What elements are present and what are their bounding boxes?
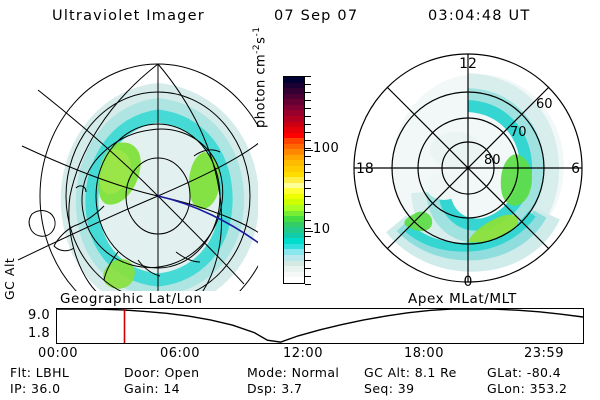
geographic-polar-plot	[8, 46, 258, 291]
orbit-y-tick-label: 1.8	[28, 326, 50, 341]
status-field-value: 3.7	[281, 381, 302, 396]
colorbar-tick	[305, 268, 311, 269]
status-field: IP: 36.0	[10, 381, 60, 396]
colorbar-tick	[305, 252, 311, 253]
status-field: Flt: LBHL	[10, 365, 69, 380]
colorbar-tick	[305, 180, 311, 181]
status-field: GC Alt: 8.1 Re	[364, 365, 457, 380]
orbit-x-tick-label: 23:59	[524, 346, 564, 361]
status-field-label: Gain:	[124, 381, 163, 396]
colorbar-tick	[305, 260, 311, 261]
status-field-label: GC Alt:	[364, 365, 415, 380]
orbit-x-tick-label: 18:00	[404, 346, 444, 361]
mlt-label-12: 12	[459, 56, 477, 72]
orbit-x-tick-label: 06:00	[160, 346, 200, 361]
colorbar-tick	[305, 188, 311, 189]
colorbar-tick-label: 100	[313, 141, 339, 156]
colorbar-unit-exp2: -1	[252, 27, 262, 37]
status-field: Dsp: 3.7	[247, 381, 302, 396]
status-field-label: GLat:	[487, 365, 527, 380]
colorbar-ticks	[305, 76, 313, 284]
status-field-label: Flt:	[10, 365, 36, 380]
colorbar-tick	[305, 76, 311, 77]
status-field-value: 39	[398, 381, 415, 396]
colorbar-tick	[305, 156, 311, 157]
status-field-label: Seq:	[364, 381, 398, 396]
colorbar-gradient	[284, 77, 304, 283]
gc-alt-axis-label: GC Alt	[2, 258, 17, 300]
status-field-value: 14	[163, 381, 180, 396]
status-field-value: -80.4	[527, 365, 561, 380]
colorbar-tick-label: 10	[313, 222, 331, 237]
mlt-label-18: 18	[356, 161, 374, 177]
status-field-value: Normal	[292, 365, 340, 380]
status-field: Door: Open	[124, 365, 199, 380]
colorbar-major-tick	[305, 150, 313, 152]
colorbar-tick	[305, 92, 311, 93]
colorbar-tick	[305, 276, 311, 277]
colorbar-tick	[305, 124, 311, 125]
status-field-value: LBHL	[36, 365, 70, 380]
status-field: Seq: 39	[364, 381, 414, 396]
mlat-label-80: 80	[484, 153, 501, 168]
colorbar-tick	[305, 132, 311, 133]
status-field-value: 353.2	[530, 381, 568, 396]
colorbar-segment	[284, 277, 304, 283]
status-field-label: GLon:	[487, 381, 530, 396]
mlat-label-60: 60	[536, 97, 553, 112]
status-field-label: IP:	[10, 381, 31, 396]
mlat-label-70: 70	[510, 125, 527, 140]
status-field: Mode: Normal	[247, 365, 339, 380]
status-footer: Flt: LBHLDoor: OpenMode: NormalGC Alt: 8…	[0, 365, 600, 397]
colorbar-tick	[305, 84, 311, 85]
colorbar-tick	[305, 236, 311, 237]
colorbar-tick	[305, 140, 311, 141]
status-field-label: Dsp:	[247, 381, 281, 396]
colorbar-tick	[305, 164, 311, 165]
mlt-label-6: 6	[571, 161, 580, 177]
colorbar-tick	[305, 108, 311, 109]
orbit-altitude-plot	[56, 308, 584, 344]
apex-plot-label: Apex MLat/MLT	[408, 291, 517, 307]
colorbar-tick	[305, 116, 311, 117]
status-field-value: 36.0	[31, 381, 60, 396]
status-field-label: Mode:	[247, 365, 292, 380]
status-row: Flt: LBHLDoor: OpenMode: NormalGC Alt: 8…	[0, 365, 600, 381]
instrument-title: Ultraviolet Imager	[52, 8, 205, 24]
colorbar-tick	[305, 196, 311, 197]
status-field-value: 8.1 Re	[415, 365, 457, 380]
geographic-plot-label: Geographic Lat/Lon	[60, 291, 203, 307]
status-field-label: Door:	[124, 365, 164, 380]
orbit-curve	[57, 309, 583, 343]
colorbar-tick	[305, 244, 311, 245]
colorbar-unit-main: photon cm	[253, 54, 268, 128]
colorbar-tick	[305, 228, 311, 229]
status-field-value: Open	[164, 365, 199, 380]
orbit-x-tick-label: 12:00	[283, 346, 323, 361]
status-field: GLon: 353.2	[487, 381, 567, 396]
colorbar-axis-label: photon cm-2s-1	[252, 27, 268, 128]
colorbar-tick	[305, 204, 311, 205]
observation-date: 07 Sep 07	[274, 8, 358, 24]
colorbar-tick	[305, 172, 311, 173]
colorbar	[283, 76, 305, 284]
orbit-x-tick-label: 00:00	[38, 346, 78, 361]
status-row: IP: 36.0Gain: 14Dsp: 3.7Seq: 39GLon: 353…	[0, 381, 600, 397]
colorbar-unit-exp1: -2	[252, 44, 262, 54]
colorbar-tick	[305, 284, 311, 285]
status-field: GLat: -80.4	[487, 365, 561, 380]
colorbar-major-tick	[305, 231, 313, 233]
apex-polar-plot: 12 6 0 18 60 70 80	[344, 46, 592, 291]
mlt-label-0: 0	[464, 274, 473, 290]
orbit-y-tick-label: 9.0	[28, 308, 50, 323]
observation-time: 03:04:48 UT	[428, 8, 530, 24]
colorbar-unit-mid: s	[253, 37, 268, 44]
colorbar-tick	[305, 220, 311, 221]
status-field: Gain: 14	[124, 381, 180, 396]
colorbar-tick	[305, 100, 311, 101]
uvi-screenshot: Ultraviolet Imager 07 Sep 07 03:04:48 UT	[0, 0, 600, 400]
colorbar-tick	[305, 212, 311, 213]
